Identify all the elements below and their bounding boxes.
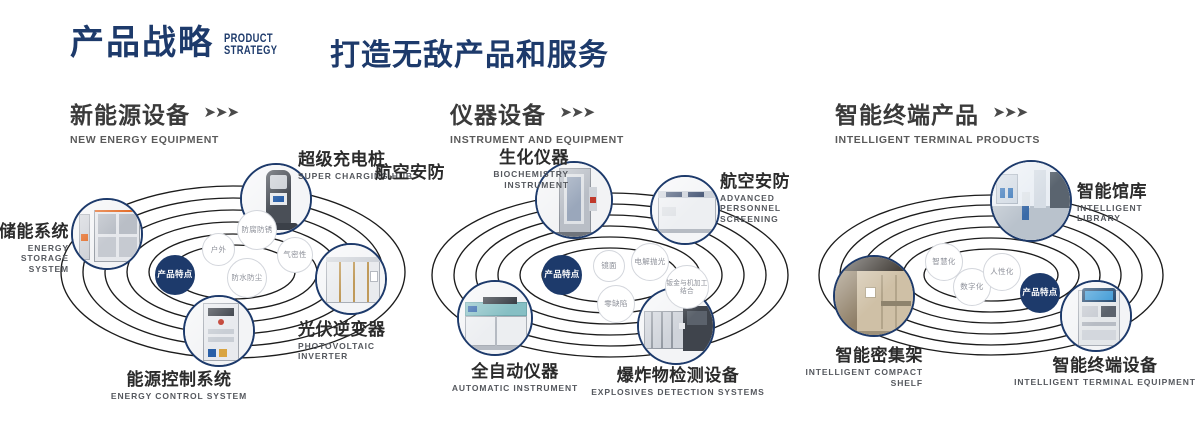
- bubble-feature-anticorrosion[interactable]: 防腐防锈: [237, 210, 277, 250]
- label-photovoltaic-inverter: 光伏逆变器 PHOTOVOLTAIC INVERTER: [298, 315, 415, 361]
- bubble-core-product-features[interactable]: 产品特点: [542, 255, 582, 295]
- bubble-label: 产品特点: [1022, 288, 1057, 298]
- bubble-feature-airtightness[interactable]: 气密性: [277, 237, 313, 273]
- page-title-cn: 产品战略: [70, 26, 214, 60]
- bubble-label: 数字化: [960, 282, 983, 291]
- label-en-line2: SHELF: [743, 378, 923, 388]
- bubble-label: 防水防尘: [231, 273, 262, 282]
- section-title-cn: 智能终端产品: [835, 96, 979, 130]
- label-biochemistry-instrument: 生化仪器 BIOCHEMISTRY INSTRUMENT: [429, 143, 569, 190]
- node-intelligent-terminal-equipment[interactable]: [1060, 280, 1132, 352]
- bubble-feature-waterproof-dustproof[interactable]: 防水防尘: [227, 258, 267, 298]
- node-intelligent-library[interactable]: [990, 160, 1072, 242]
- node-intelligent-compact-shelf[interactable]: [833, 255, 915, 337]
- node-photovoltaic-inverter[interactable]: [315, 243, 387, 315]
- label-cn: 储能系统: [0, 217, 69, 242]
- label-cn: 智能馆库: [1077, 177, 1170, 202]
- page-title: 产品战略 PRODUCT STRATEGY: [70, 26, 292, 60]
- bubble-core-product-features[interactable]: 产品特点: [155, 255, 195, 295]
- bubble-label: 零缺陷: [604, 299, 627, 308]
- bubble-label: 镜面: [601, 261, 617, 270]
- section-title-instrument: 仪器设备 ➤➤➤ INSTRUMENT AND EQUIPMENT: [450, 96, 624, 146]
- bubble-feature-zero-defect[interactable]: 零缺陷: [597, 285, 635, 323]
- chevron-right-icon: ➤➤➤: [559, 103, 594, 121]
- bubble-core-product-features[interactable]: 产品特点: [1020, 273, 1060, 313]
- bubble-feature-humanization[interactable]: 人性化: [983, 253, 1021, 291]
- node-automatic-instrument[interactable]: [457, 280, 533, 356]
- diagram-new-energy: 储能系统 ENERGY STORAGE SYSTEM 超级充电桩 SUPER C…: [55, 165, 415, 380]
- label-intelligent-compact-shelf: 智能密集架 INTELLIGENT COMPACT SHELF: [743, 341, 923, 388]
- label-aviation-security-left: 航空安防: [375, 158, 445, 183]
- bubble-label: 钣金与机加工结合: [666, 279, 708, 295]
- poster-canvas: 产品战略 PRODUCT STRATEGY 打造无敌产品和服务 新能源设备 ➤➤…: [0, 0, 1200, 422]
- label-intelligent-terminal-equipment: 智能终端设备 INTELLIGENT TERMINAL EQUIPMENT: [1010, 351, 1200, 387]
- bubble-label: 人性化: [990, 267, 1013, 276]
- chevron-right-icon: ➤➤➤: [203, 103, 238, 121]
- page-title-en-line2: STRATEGY: [224, 43, 277, 57]
- section-title-cn: 新能源设备: [70, 96, 190, 130]
- bubble-label: 智慧化: [932, 257, 955, 266]
- label-en-line2: SYSTEM: [0, 264, 69, 274]
- label-cn: 航空安防: [375, 158, 445, 183]
- node-energy-control-system[interactable]: [183, 295, 255, 367]
- bubble-feature-outdoor[interactable]: 户外: [202, 233, 235, 266]
- bubble-label: 电解抛光: [634, 257, 665, 266]
- label-cn: 能源控制系统: [89, 365, 269, 390]
- label-en-line1: INTELLIGENT COMPACT: [743, 367, 923, 377]
- bubble-feature-electropolishing[interactable]: 电解抛光: [631, 243, 669, 281]
- node-advanced-personnel-screening[interactable]: [650, 175, 720, 245]
- section-title-intelligent-terminal: 智能终端产品 ➤➤➤ INTELLIGENT TERMINAL PRODUCTS: [835, 96, 1040, 146]
- page-subtitle: 打造无敌产品和服务: [330, 30, 609, 74]
- bubble-feature-mirror-finish[interactable]: 镜面: [593, 250, 625, 282]
- label-cn: 全自动仪器: [415, 357, 615, 382]
- section-title-en: NEW ENERGY EQUIPMENT: [70, 134, 238, 146]
- label-automatic-instrument: 全自动仪器 AUTOMATIC INSTRUMENT: [415, 357, 615, 393]
- label-en-line1: AUTOMATIC INSTRUMENT: [415, 383, 615, 393]
- diagram-intelligent-terminal: 智能馆库 INTELLIGENT LIBRARY 智能密集架 INTELLIGE…: [815, 165, 1170, 380]
- label-en-line1: ENERGY STORAGE: [0, 243, 69, 263]
- bubble-feature-sheetmetal-machining[interactable]: 钣金与机加工结合: [665, 265, 709, 309]
- label-en-line1: BIOCHEMISTRY: [429, 169, 569, 179]
- section-title-en: INTELLIGENT TERMINAL PRODUCTS: [835, 134, 1040, 146]
- section-title-new-energy: 新能源设备 ➤➤➤ NEW ENERGY EQUIPMENT: [70, 96, 238, 146]
- label-en-line2: INSTRUMENT: [429, 180, 569, 190]
- label-cn: 智能终端设备: [1010, 351, 1200, 376]
- label-energy-storage-system: 储能系统 ENERGY STORAGE SYSTEM: [0, 217, 69, 274]
- label-en-line1: PHOTOVOLTAIC INVERTER: [298, 341, 415, 361]
- label-advanced-personnel-screening: 航空安防 ADVANCED PERSONNEL SCREENING: [720, 167, 795, 224]
- label-cn: 智能密集架: [743, 341, 923, 366]
- bubble-label: 防腐防锈: [241, 225, 272, 234]
- bubble-label: 气密性: [283, 250, 306, 259]
- bubble-label: 户外: [211, 245, 227, 254]
- label-intelligent-library: 智能馆库 INTELLIGENT LIBRARY: [1077, 177, 1170, 223]
- label-energy-control-system: 能源控制系统 ENERGY CONTROL SYSTEM: [89, 365, 269, 401]
- chevron-right-icon: ➤➤➤: [992, 103, 1027, 121]
- label-cn: 生化仪器: [429, 143, 569, 168]
- label-en-line1: INTELLIGENT LIBRARY: [1077, 203, 1170, 223]
- label-en-line2: SCREENING: [720, 214, 795, 224]
- diagram-instrument: 生化仪器 BIOCHEMISTRY INSTRUMENT 航空安防 航空安防 A…: [425, 165, 795, 380]
- node-energy-storage-system[interactable]: [71, 198, 143, 270]
- bubble-label: 产品特点: [157, 270, 192, 280]
- label-cn: 光伏逆变器: [298, 315, 415, 340]
- section-title-cn: 仪器设备: [450, 96, 546, 130]
- label-en-line1: INTELLIGENT TERMINAL EQUIPMENT: [1010, 377, 1200, 387]
- label-en-line1: ENERGY CONTROL SYSTEM: [89, 391, 269, 401]
- bubble-label: 产品特点: [544, 270, 579, 280]
- page-title-en: PRODUCT STRATEGY: [224, 32, 277, 57]
- label-cn: 航空安防: [720, 167, 795, 192]
- label-en-line1: ADVANCED PERSONNEL: [720, 193, 795, 213]
